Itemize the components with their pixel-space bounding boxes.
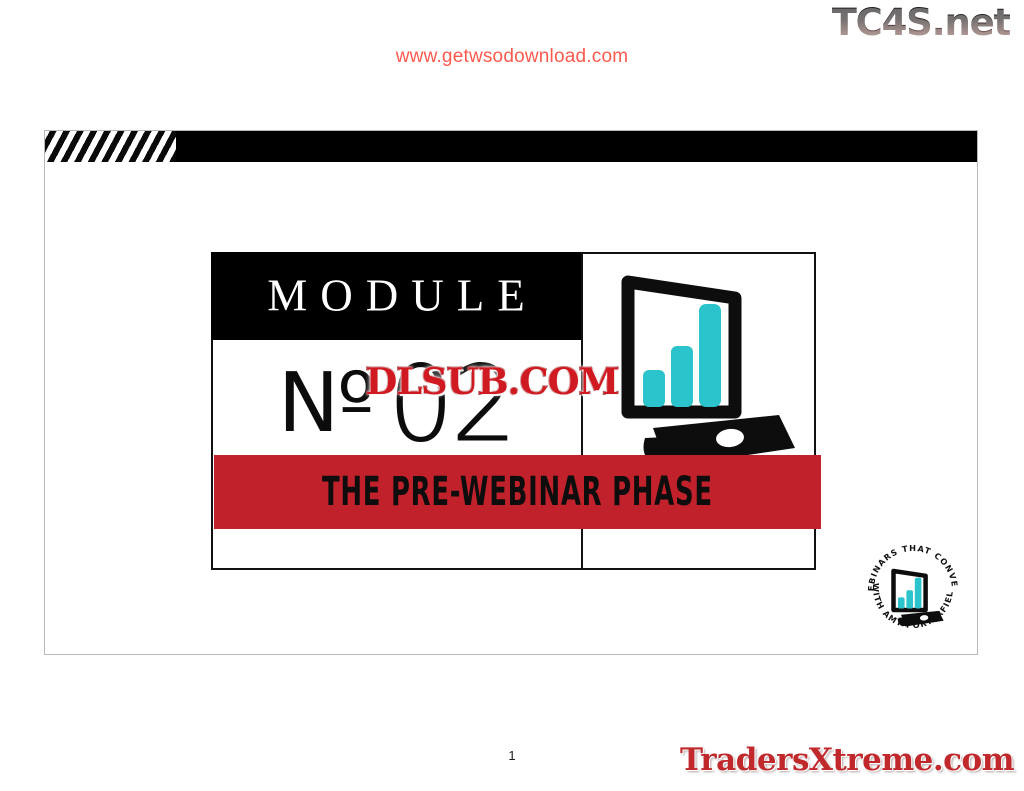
tc4s-watermark-logo: TC4S.net [832,3,1010,43]
numero-mark: Nº [278,363,374,445]
top-watermark-url: www.getwsodownload.com [0,46,1024,68]
diagonal-stripes-icon [45,131,176,162]
module-header-bar: MODULE [211,252,581,340]
dlsub-watermark: DLSUB.COM [366,364,619,400]
badge-top-arc-text: WEBINARS THAT CONVERT [858,532,960,591]
title-banner-text: THE PRE-WEBINAR PHASE [322,472,713,512]
title-banner: THE PRE-WEBINAR PHASE [214,455,821,529]
module-label: MODULE [211,274,581,319]
svg-text:WEBINARS THAT CONVERT: WEBINARS THAT CONVERT [858,532,960,591]
module-number-row: Nº 02 [211,340,581,468]
brand-badge: WEBINARS THAT CONVERT WITH AMY PORTERFIE… [858,532,968,642]
tradersxtreme-watermark-logo: TradersXtreme.com [680,742,1014,778]
slide-top-bar [45,131,978,162]
